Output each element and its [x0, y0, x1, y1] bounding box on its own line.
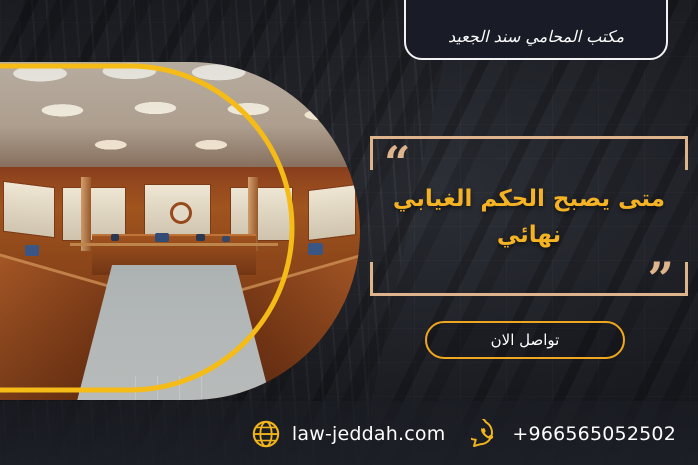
website-contact[interactable]: law-jeddah.com [251, 419, 446, 449]
globe-icon [251, 419, 281, 449]
contact-now-label: تواصل الان [491, 331, 560, 349]
contact-now-button[interactable]: تواصل الان [425, 321, 625, 359]
promo-poster: مكتب المحامي سند الجعيد “ متى يصبح الحكم… [0, 0, 698, 465]
whatsapp-icon [471, 419, 501, 449]
opening-quote-mark: “ [384, 140, 410, 186]
logo-text: مكتب المحامي سند الجعيد [448, 27, 624, 46]
phone-contact[interactable]: +966565052502 [471, 419, 676, 449]
photo-shading [0, 62, 360, 400]
frame-bottom-border [370, 293, 688, 296]
frame-left-bottom-corner [370, 262, 373, 296]
website-text: law-jeddah.com [292, 423, 446, 445]
frame-right-bottom-corner [685, 262, 688, 296]
frame-right-top-corner [685, 136, 688, 170]
phone-text: +966565052502 [512, 423, 676, 445]
quote-frame: “ متى يصبح الحكم الغيابي نهائي ” [370, 136, 688, 296]
courtroom-image [0, 62, 360, 400]
headline-text: متى يصبح الحكم الغيابي نهائي [386, 182, 672, 253]
logo-badge: مكتب المحامي سند الجعيد [404, 0, 668, 60]
frame-left-top-corner [370, 136, 373, 170]
courtroom-illustration [0, 62, 360, 400]
frame-top-border [370, 136, 688, 139]
footer-contact-bar: law-jeddah.com +966565052502 [0, 403, 698, 465]
closing-quote-mark: ” [648, 256, 674, 302]
